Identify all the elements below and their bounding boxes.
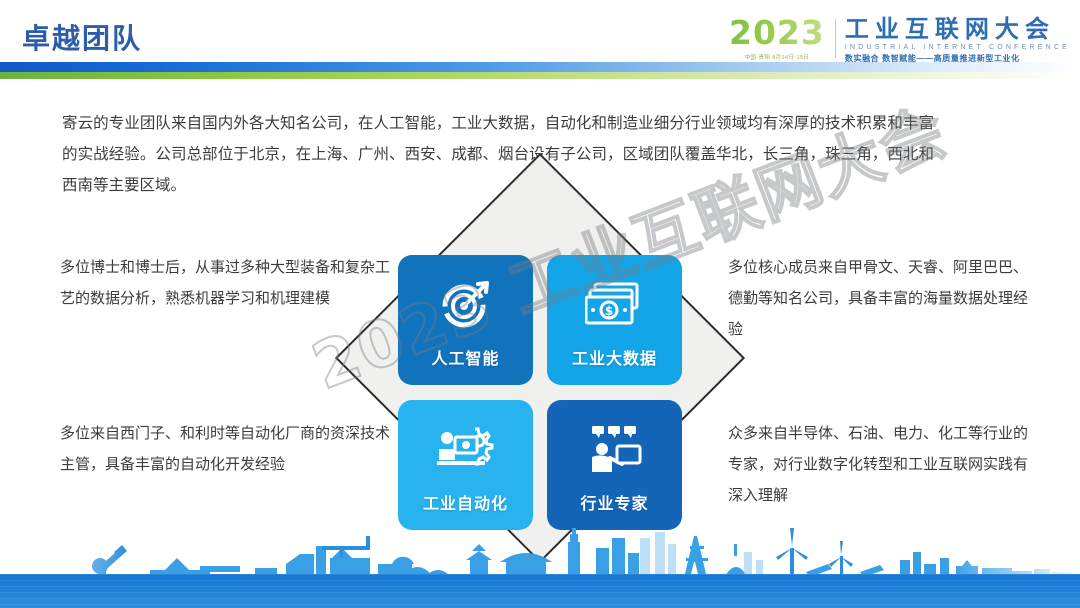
card-label: 行业专家 <box>580 490 648 514</box>
description-left-top: 多位博士和博士后，从事过多种大型装备和复杂工艺的数据分析，熟悉机器学习和机理建模 <box>60 252 390 314</box>
conference-logo: 2023 中国·贵阳 8月14日-15日 工业互联网大会 INDUSTRIAL … <box>729 16 1070 64</box>
header-rule-white <box>0 79 1080 85</box>
description-right-bottom: 众多来自半导体、石油、电力、化工等行业的专家，对行业数字化转型和工业互联网实践有… <box>728 418 1038 511</box>
worker-gear-icon <box>435 420 497 478</box>
target-arrow-icon <box>438 275 494 333</box>
description-left-bottom: 多位来自西门子、和利时等自动化厂商的资深技术主管，具备丰富的自动化开发经验 <box>60 418 390 480</box>
description-right-top: 多位核心成员来自甲骨文、天睿、阿里巴巴、德勤等知名公司，具备丰富的海量数据处理经… <box>728 252 1038 345</box>
card-label: 人工智能 <box>431 345 499 369</box>
logo-name-block: 工业互联网大会 INDUSTRIAL INTERNET CONFERENCE 数… <box>845 16 1070 64</box>
presenter-icon <box>586 420 644 478</box>
logo-year-block: 2023 中国·贵阳 8月14日-15日 <box>729 16 835 61</box>
card-big-data[interactable]: $ 工业大数据 <box>547 255 682 385</box>
bottom-scenery <box>0 528 1080 608</box>
header-rule-green <box>0 72 1080 79</box>
card-automation[interactable]: 工业自动化 <box>398 400 533 530</box>
card-ai[interactable]: 人工智能 <box>398 255 533 385</box>
logo-year: 2023 <box>729 16 825 49</box>
card-label: 工业大数据 <box>572 345 657 369</box>
page-title: 卓越团队 <box>22 17 142 57</box>
card-label: 工业自动化 <box>423 490 508 514</box>
water-band <box>0 574 1080 608</box>
logo-name-en: INDUSTRIAL INTERNET CONFERENCE <box>845 44 1070 51</box>
capability-card-grid: 人工智能 $ 工业大数据 <box>398 255 682 530</box>
intro-paragraph: 寄云的专业团队来自国内外各大知名公司，在人工智能，工业大数据，自动化和制造业细分… <box>62 108 934 201</box>
city-skyline <box>0 526 1080 578</box>
slide-root: 卓越团队 2023 中国·贵阳 8月14日-15日 工业互联网大会 INDUST… <box>0 0 1080 608</box>
logo-date: 中国·贵阳 8月14日-15日 <box>729 53 825 61</box>
logo-slogan: 数实融合 数智赋能——高质量推进新型工业化 <box>845 53 1070 64</box>
logo-divider <box>835 19 836 58</box>
logo-name-cn: 工业互联网大会 <box>845 17 1070 42</box>
svg-text:$: $ <box>604 304 612 318</box>
banknotes-icon: $ <box>585 275 645 333</box>
card-industry-expert[interactable]: 行业专家 <box>547 400 682 530</box>
